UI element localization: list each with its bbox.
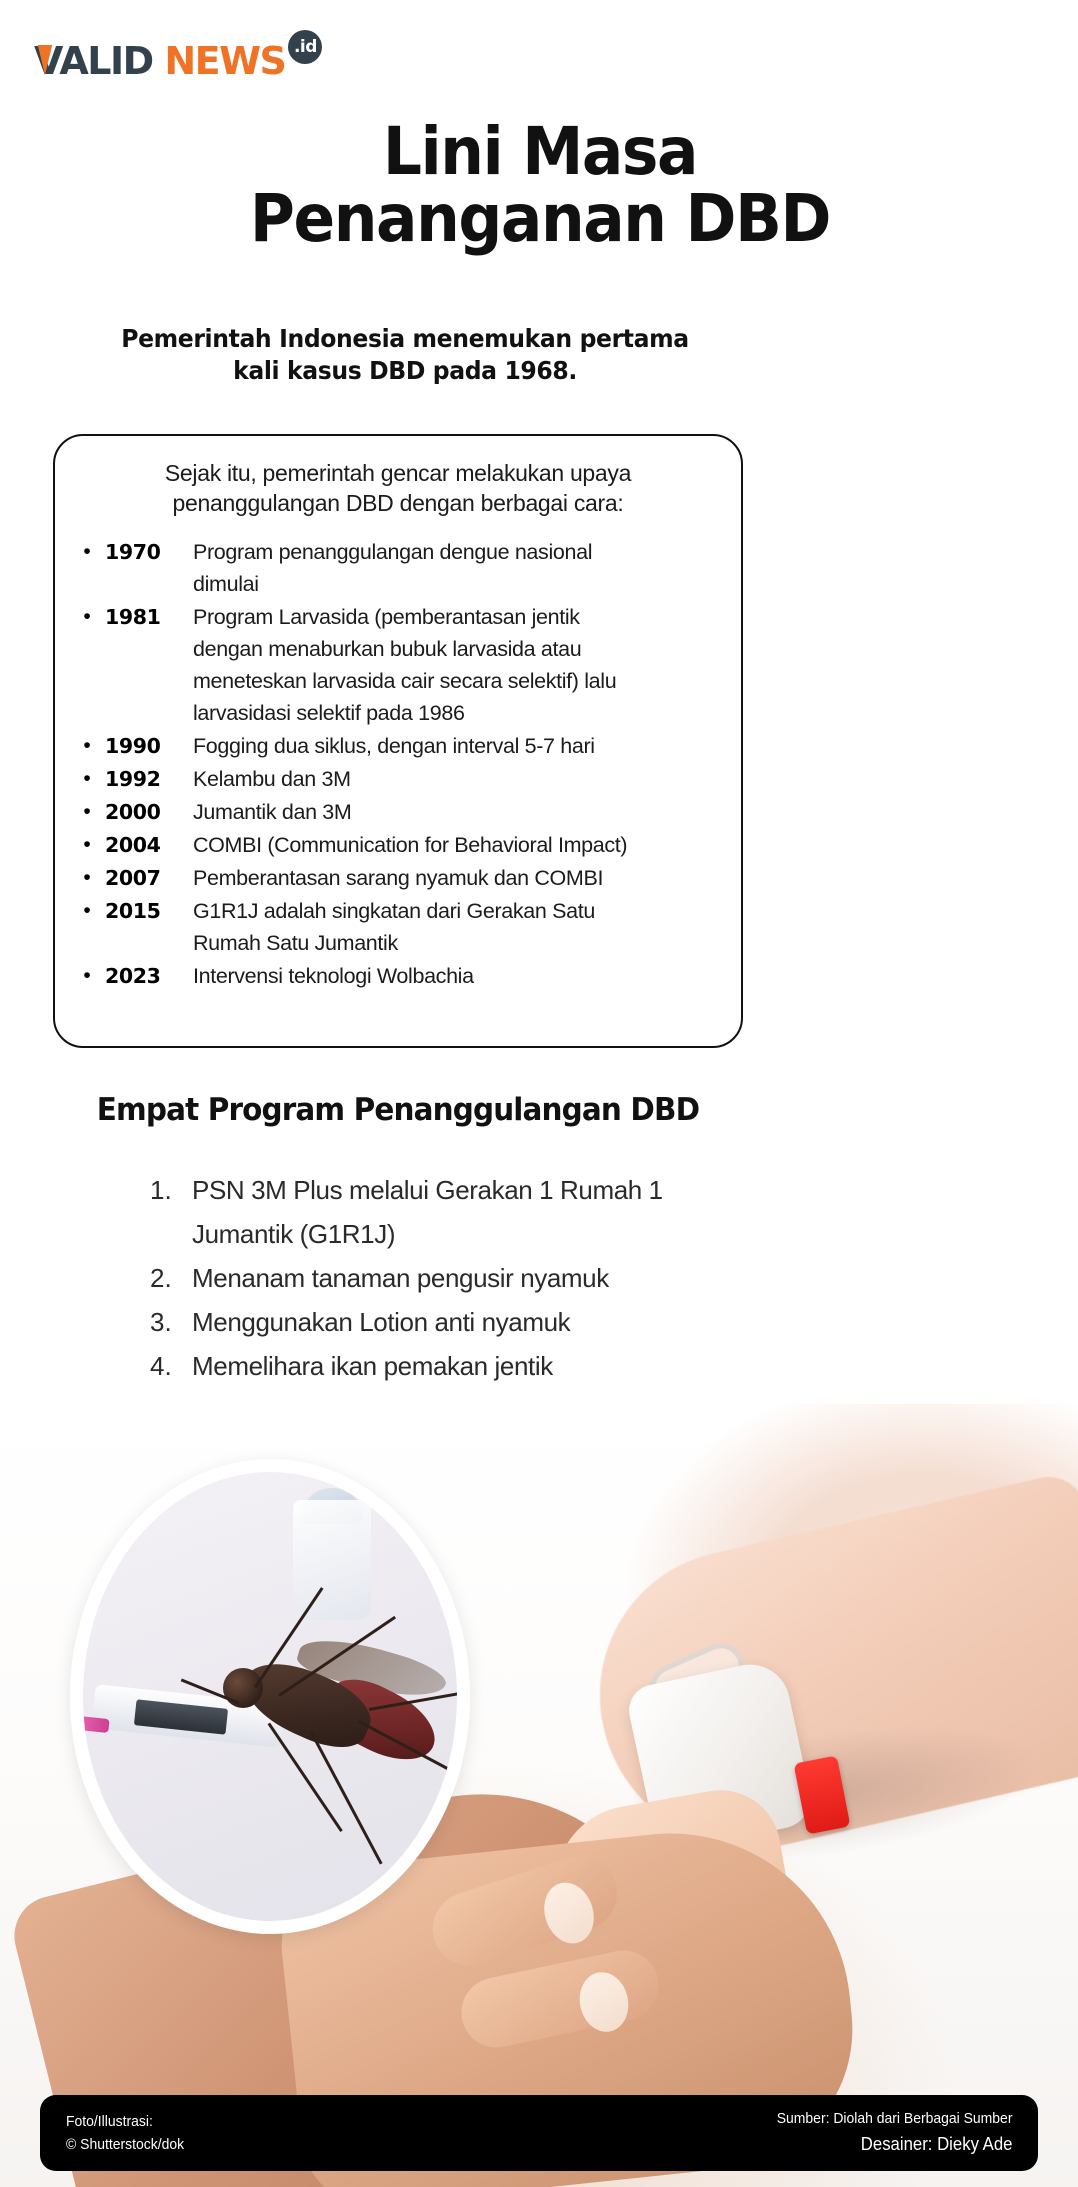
- card-lead-line-1: Sejak itu, pemerintah gencar melakukan u…: [165, 460, 631, 486]
- timeline-row: • 1981 Program Larvasida (pemberantasan …: [69, 601, 745, 729]
- mosquito-head: [223, 1668, 263, 1708]
- timeline-row: • 2000 Jumantik dan 3M: [69, 796, 745, 828]
- timeline-list: • 1970 Program penanggulangan dengue nas…: [69, 536, 745, 993]
- program-item: 1. PSN 3M Plus melalui Gerakan 1 Rumah 1…: [150, 1168, 770, 1256]
- program-text: Menanam tanaman pengusir nyamuk: [192, 1256, 770, 1300]
- program-item: 4. Memelihara ikan pemakan jentik: [150, 1344, 770, 1388]
- desc-line: COMBI (Communication for Behavioral Impa…: [193, 829, 745, 861]
- programs-list: 1. PSN 3M Plus melalui Gerakan 1 Rumah 1…: [150, 1168, 770, 1388]
- mosquito-inset: [70, 1459, 470, 1934]
- timeline-row: • 1970 Program penanggulangan dengue nas…: [69, 536, 745, 600]
- timeline-desc: Fogging dua siklus, dengan interval 5-7 …: [193, 730, 745, 762]
- program-number: 2.: [150, 1256, 192, 1300]
- page-title: Lini Masa Penanganan DBD: [60, 118, 1020, 253]
- program-number: 4.: [150, 1344, 192, 1388]
- timeline-year: 2023: [105, 960, 193, 992]
- desc-line: Jumantik dan 3M: [193, 796, 745, 828]
- footer-credit-right: Sumber: Diolah dari Berbagai Sumber Desa…: [776, 2107, 1012, 2158]
- timeline-row: • 1990 Fogging dua siklus, dengan interv…: [69, 730, 745, 762]
- vaccine-vial: [293, 1500, 371, 1620]
- timeline-year: 2004: [105, 829, 193, 861]
- desc-line: Kelambu dan 3M: [193, 763, 745, 795]
- timeline-desc: Program penanggulangan dengue nasional d…: [193, 536, 745, 600]
- bullet-icon: •: [69, 960, 105, 992]
- infographic-page: VALID NEWS .id Lini Masa Penanganan DBD …: [0, 0, 1078, 2187]
- timeline-desc: Pemberantasan sarang nyamuk dan COMBI: [193, 862, 745, 894]
- desc-line: Pemberantasan sarang nyamuk dan COMBI: [193, 862, 745, 894]
- timeline-desc: G1R1J adalah singkatan dari Gerakan Satu…: [193, 895, 745, 959]
- desc-line: Program Larvasida (pemberantasan jentik: [193, 601, 745, 633]
- bullet-icon: •: [69, 829, 105, 861]
- timeline-year: 2015: [105, 895, 193, 927]
- footer-bar: Foto/Illustrasi: © Shutterstock/dok Sumb…: [40, 2095, 1038, 2171]
- timeline-desc: Kelambu dan 3M: [193, 763, 745, 795]
- desc-line: dimulai: [193, 568, 745, 600]
- timeline-row: • 2015 G1R1J adalah singkatan dari Gerak…: [69, 895, 745, 959]
- timeline-year: 1981: [105, 601, 193, 633]
- page-subtitle: Pemerintah Indonesia menemukan pertama k…: [107, 323, 702, 388]
- footer-data-source: Sumber: Diolah dari Berbagai Sumber: [776, 2107, 1012, 2130]
- timeline-row: • 2007 Pemberantasan sarang nyamuk dan C…: [69, 862, 745, 894]
- timeline-card: Sejak itu, pemerintah gencar melakukan u…: [53, 434, 743, 1048]
- timeline-row: • 2023 Intervensi teknologi Wolbachia: [69, 960, 745, 992]
- timeline-row: • 2004 COMBI (Communication for Behavior…: [69, 829, 745, 861]
- footer-photo-label: Foto/Illustrasi:: [66, 2110, 184, 2133]
- card-lead-text: Sejak itu, pemerintah gencar melakukan u…: [95, 458, 701, 519]
- logo-news-label: NEWS: [164, 39, 285, 83]
- program-item: 2. Menanam tanaman pengusir nyamuk: [150, 1256, 770, 1300]
- bullet-icon: •: [69, 796, 105, 828]
- program-text: Menggunakan Lotion anti nyamuk: [192, 1300, 770, 1344]
- footer-photo-source: © Shutterstock/dok: [66, 2133, 184, 2156]
- timeline-desc: Intervensi teknologi Wolbachia: [193, 960, 745, 992]
- program-text: PSN 3M Plus melalui Gerakan 1 Rumah 1 Ju…: [192, 1168, 770, 1256]
- logo-wordmark: VALID NEWS: [34, 42, 285, 80]
- desc-line: G1R1J adalah singkatan dari Gerakan Satu: [193, 895, 745, 927]
- desc-line: dengan menaburkan bubuk larvasida atau: [193, 633, 745, 665]
- footer-designer: Desainer: Dieky Ade: [776, 2131, 1012, 2159]
- logo-valid-text: VALID: [34, 39, 164, 83]
- program-text: Memelihara ikan pemakan jentik: [192, 1344, 770, 1388]
- timeline-year: 1992: [105, 763, 193, 795]
- title-line-2: Penanganan DBD: [94, 185, 987, 252]
- subtitle-line-2: kasus DBD pada 1968.: [287, 356, 577, 385]
- program-line: Jumantik (G1R1J): [192, 1212, 770, 1256]
- desc-line: meneteskan larvasida cair secara selekti…: [193, 665, 745, 697]
- timeline-year: 1970: [105, 536, 193, 568]
- desc-line: Fogging dua siklus, dengan interval 5-7 …: [193, 730, 745, 762]
- program-number: 3.: [150, 1300, 192, 1344]
- timeline-desc: Jumantik dan 3M: [193, 796, 745, 828]
- desc-line: Program penanggulangan dengue nasional: [193, 536, 745, 568]
- program-item: 3. Menggunakan Lotion anti nyamuk: [150, 1300, 770, 1344]
- bullet-icon: •: [69, 601, 105, 633]
- logo-v-accent-icon: [38, 45, 52, 75]
- bullet-icon: •: [69, 895, 105, 927]
- desc-line: Rumah Satu Jumantik: [193, 927, 745, 959]
- logo-id-badge: .id: [288, 30, 322, 64]
- bullet-icon: •: [69, 730, 105, 762]
- timeline-row: • 1992 Kelambu dan 3M: [69, 763, 745, 795]
- timeline-year: 2007: [105, 862, 193, 894]
- timeline-year: 2000: [105, 796, 193, 828]
- program-line: PSN 3M Plus melalui Gerakan 1 Rumah 1: [192, 1168, 770, 1212]
- footer-credit-left: Foto/Illustrasi: © Shutterstock/dok: [66, 2110, 184, 2157]
- desc-line: larvasidasi selektif pada 1986: [193, 697, 745, 729]
- timeline-desc: Program Larvasida (pemberantasan jentik …: [193, 601, 745, 729]
- bullet-icon: •: [69, 862, 105, 894]
- timeline-desc: COMBI (Communication for Behavioral Impa…: [193, 829, 745, 861]
- programs-heading: Empat Program Penanggulangan DBD: [70, 1092, 726, 1128]
- title-line-1: Lini Masa: [94, 118, 987, 185]
- hero-photo: [0, 1404, 1078, 2187]
- card-lead-line-2: penanggulangan DBD dengan berbagai cara:: [173, 490, 624, 516]
- validnews-logo[interactable]: VALID NEWS .id: [34, 38, 322, 84]
- desc-line: Intervensi teknologi Wolbachia: [193, 960, 745, 992]
- syringe-needle: [70, 1715, 110, 1733]
- timeline-year: 1990: [105, 730, 193, 762]
- bullet-icon: •: [69, 536, 105, 568]
- bullet-icon: •: [69, 763, 105, 795]
- program-number: 1.: [150, 1168, 192, 1212]
